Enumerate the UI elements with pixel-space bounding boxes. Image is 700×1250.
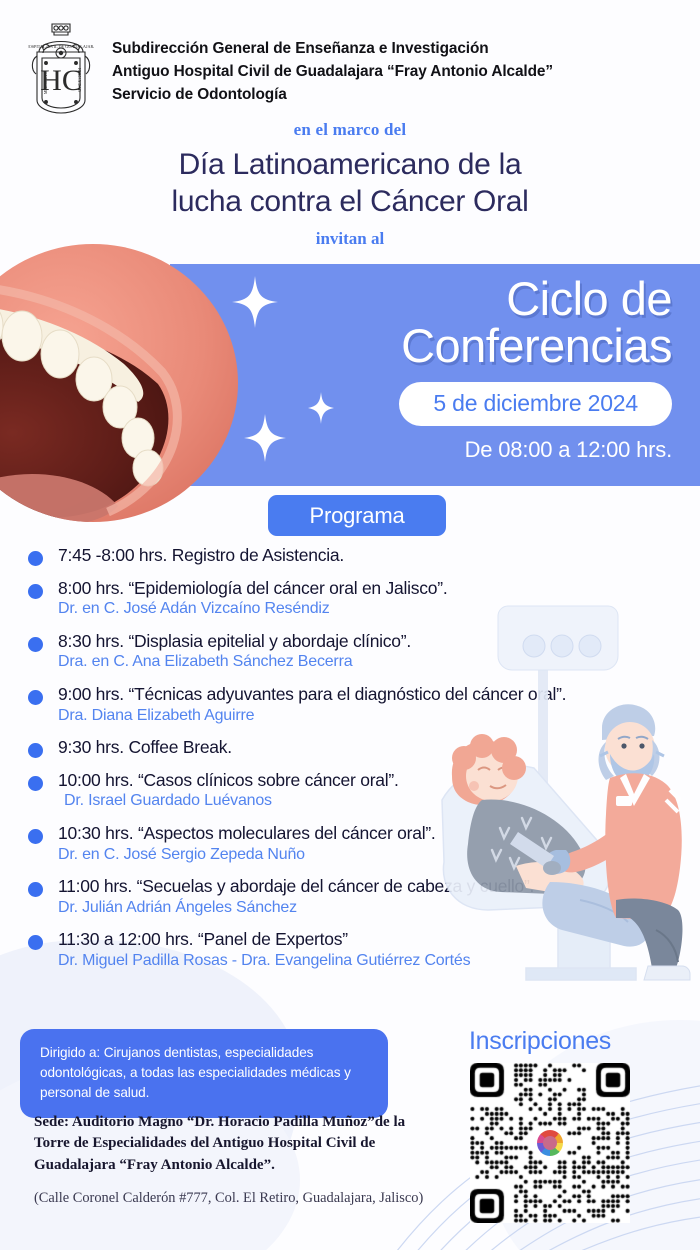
header-line-2: Antiguo Hospital Civil de Guadalajara “F…: [112, 61, 553, 84]
page-title-line-2: lucha contra el Cáncer Oral: [0, 184, 700, 221]
hero-content: Ciclo de Conferencias 5 de diciembre 202…: [242, 276, 672, 463]
page-title-line-1: Día Latinoamericano de la: [0, 147, 700, 184]
svg-text:MEDICINA Y: MEDICINA Y: [44, 71, 48, 94]
page-title: Día Latinoamericano de la lucha contra e…: [0, 147, 700, 220]
header-line-3: Servicio de Odontología: [112, 84, 553, 107]
inscripciones-label: Inscripciones: [469, 1027, 611, 1056]
intro-kicker: en el marco del: [0, 120, 700, 140]
hospital-civil-coat-of-arms-icon: HOSPITAL CIVIL DE GUADALAJARA HC MEDICIN…: [28, 20, 94, 116]
bullet-icon: [28, 743, 43, 758]
bullet-icon: [28, 551, 43, 566]
dentist-and-patient-illustration: [430, 600, 700, 1000]
audience-callout: Dirigido a: Cirujanos dentistas, especia…: [20, 1029, 388, 1118]
organization-header: HOSPITAL CIVIL DE GUADALAJARA HC MEDICIN…: [0, 0, 700, 118]
programa-heading-button[interactable]: Programa: [268, 495, 446, 536]
bullet-icon: [28, 882, 43, 897]
bullet-icon: [28, 776, 43, 791]
svg-text:HUMANIDAD: HUMANIDAD: [77, 68, 81, 92]
hero-title-line-2: Conferencias: [242, 323, 672, 370]
hero-title-line-1: Ciclo de: [506, 272, 672, 325]
program-item-title: 8:00 hrs. “Epidemiología del cáncer oral…: [58, 578, 682, 599]
event-date-badge: 5 de diciembre 2024: [399, 382, 672, 426]
program-item-title: 7:45 -8:00 hrs. Registro de Asistencia.: [58, 545, 682, 566]
qr-center-logo-icon: [537, 1130, 563, 1156]
list-item: 7:45 -8:00 hrs. Registro de Asistencia.: [22, 545, 682, 566]
bullet-icon: [28, 637, 43, 652]
poster-root: HOSPITAL CIVIL DE GUADALAJARA HC MEDICIN…: [0, 0, 700, 1250]
bullet-icon: [28, 690, 43, 705]
header-line-1: Subdirección General de Enseñanza e Inve…: [112, 38, 553, 61]
bullet-icon: [28, 935, 43, 950]
event-hours: De 08:00 a 12:00 hrs.: [242, 437, 672, 463]
bullet-icon: [28, 584, 43, 599]
bullet-icon: [28, 829, 43, 844]
venue-text: Sede: Auditorio Magno “Dr. Horacio Padil…: [34, 1112, 424, 1176]
header-org-lines: Subdirección General de Enseñanza e Inve…: [112, 38, 553, 106]
hero-title: Ciclo de Conferencias: [242, 276, 672, 369]
hero-banner: Ciclo de Conferencias 5 de diciembre 202…: [170, 264, 700, 486]
address-text: (Calle Coronel Calderón #777, Col. El Re…: [34, 1188, 434, 1208]
registration-qr-code[interactable]: [470, 1063, 630, 1223]
intro-block: en el marco del Día Latinoamericano de l…: [0, 120, 700, 249]
